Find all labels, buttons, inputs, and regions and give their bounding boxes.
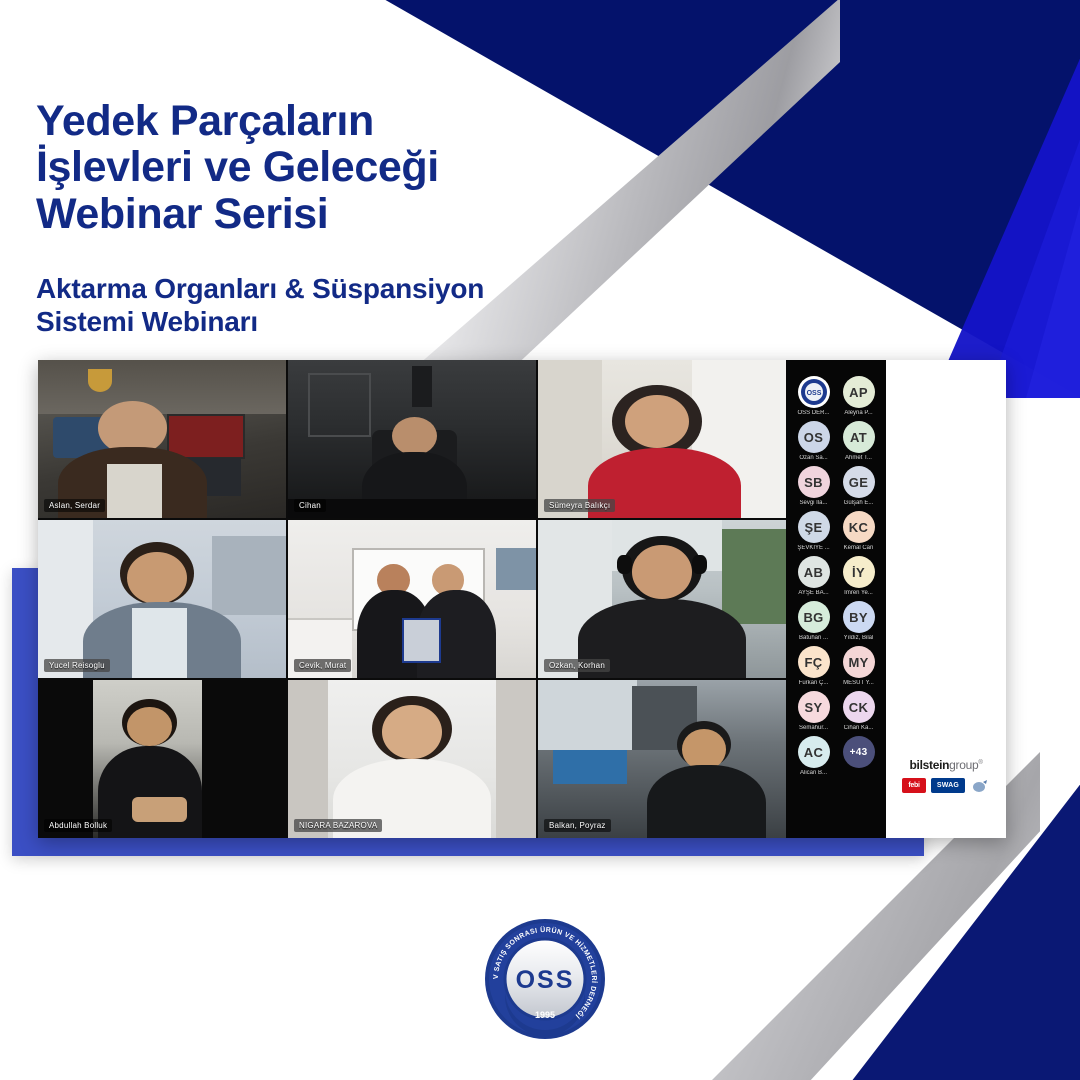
- participant-name: MESUT Y...: [843, 680, 874, 686]
- participant-name: Furkan Ç...: [799, 680, 829, 686]
- video-tile[interactable]: NIGARA BAZAROVA: [288, 680, 536, 838]
- group-name: group: [949, 758, 978, 772]
- bilstein-wordmark: bilsteingroup®: [894, 758, 998, 772]
- participant-avatar: BY: [843, 601, 875, 633]
- participant-avatar: OS: [798, 421, 830, 453]
- participant-item[interactable]: SY Semahur...: [792, 691, 835, 731]
- tile-scene: [538, 520, 786, 678]
- febi-logo: febi: [902, 778, 926, 793]
- sub-brand-row: febi SWAG: [894, 778, 998, 793]
- sponsor-brand-panel: bilsteingroup® febi SWAG: [886, 360, 1006, 838]
- tile-scene: [288, 680, 536, 838]
- bilstein-group-logo: bilsteingroup® febi SWAG: [894, 758, 998, 793]
- participant-item[interactable]: İY İmren Ye...: [837, 556, 880, 596]
- title-block: Yedek Parçaların İşlevleri ve Geleceği W…: [36, 98, 636, 338]
- top-right-blue-stripe-3: [942, 0, 1080, 398]
- participant-item[interactable]: MY MESUT Y...: [837, 646, 880, 686]
- meeting-screenshot: Aslan, Serdar Cihan: [38, 360, 1006, 838]
- oss-year: 1995: [535, 1010, 555, 1020]
- video-grid: Aslan, Serdar Cihan: [38, 360, 786, 838]
- participant-name: AYŞE BA...: [798, 590, 828, 596]
- participant-roster: OSS OSS DER... AP Aleyna P... OS Ozan Sa…: [786, 360, 886, 838]
- participant-name: Semahur...: [799, 725, 828, 731]
- participant-name: Cihan Ka...: [844, 725, 874, 731]
- participant-name: Ahmet T...: [845, 455, 872, 461]
- bilstein-name: bilstein: [910, 758, 950, 772]
- video-tile[interactable]: Balkan, Poyraz: [538, 680, 786, 838]
- participant-item[interactable]: SB Sevgi Ila...: [792, 466, 835, 506]
- participant-item[interactable]: AB AYŞE BA...: [792, 556, 835, 596]
- participant-name: Ozan Sa...: [799, 455, 827, 461]
- tile-name-label: Yucel Reisoglu: [44, 659, 110, 672]
- febi-label: febi: [908, 782, 919, 789]
- tile-scene: [38, 360, 286, 518]
- participant-name: Yıldız, Bilal: [844, 635, 874, 641]
- oss-logo-icon: OTOMOTİV SATIŞ SONRASI ÜRÜN VE HİZMETLER…: [484, 918, 606, 1040]
- participant-avatar: AB: [798, 556, 830, 588]
- tile-name-label: Cihan: [294, 499, 326, 512]
- participant-item[interactable]: CK Cihan Ka...: [837, 691, 880, 731]
- tile-name-label: Aslan, Serdar: [44, 499, 105, 512]
- participant-avatar: ŞE: [798, 511, 830, 543]
- participant-avatar: FÇ: [798, 646, 830, 678]
- swag-logo: SWAG: [931, 778, 965, 793]
- participant-avatar: AC: [798, 736, 830, 768]
- oss-acronym: OSS: [516, 966, 575, 994]
- registered-mark: ®: [978, 760, 982, 766]
- video-tile[interactable]: Abdullah Bolluk: [38, 680, 286, 838]
- blue-print-logo: [970, 778, 990, 793]
- video-tile[interactable]: Yucel Reisoglu: [38, 520, 286, 678]
- tile-name-label: Balkan, Poyraz: [544, 819, 611, 832]
- participant-name: OSS DER...: [797, 410, 829, 416]
- participant-name: Gülşah E...: [844, 500, 874, 506]
- participant-item[interactable]: KC Kemal Can: [837, 511, 880, 551]
- participant-name: İmren Ye...: [844, 590, 873, 596]
- tile-scene: [38, 680, 286, 838]
- participant-name: ŞEVKİYE ...: [797, 545, 829, 551]
- video-tile[interactable]: Cevik, Murat: [288, 520, 536, 678]
- participant-item[interactable]: BY Yıldız, Bilal: [837, 601, 880, 641]
- tile-name-label: NIGARA BAZAROVA: [294, 819, 382, 832]
- participant-item[interactable]: OS Ozan Sa...: [792, 421, 835, 461]
- participant-overflow-badge: +43: [843, 736, 875, 768]
- participant-name: Aleyna P...: [844, 410, 872, 416]
- video-tile[interactable]: Sümeyra Balıkçı: [538, 360, 786, 518]
- tile-name-label: Sümeyra Balıkçı: [544, 499, 615, 512]
- participant-item[interactable]: AP Aleyna P...: [837, 376, 880, 416]
- svg-text:OSS: OSS: [806, 390, 821, 397]
- participant-name: Sevgi Ila...: [799, 500, 827, 506]
- video-tile[interactable]: Aslan, Serdar: [38, 360, 286, 518]
- video-tile[interactable]: Cihan: [288, 360, 536, 518]
- blue-print-droplet-icon: [971, 779, 989, 793]
- tile-name-label: Cevik, Murat: [294, 659, 351, 672]
- oss-association-logo: OTOMOTİV SATIŞ SONRASI ÜRÜN VE HİZMETLER…: [484, 918, 606, 1040]
- participant-overflow-item[interactable]: +43: [837, 736, 880, 776]
- tile-name-label: Abdullah Bolluk: [44, 819, 112, 832]
- participant-name: Batuhan ...: [799, 635, 828, 641]
- tile-scene: [288, 360, 536, 518]
- participant-avatar: MY: [843, 646, 875, 678]
- tile-name-label: Ozkan, Korhan: [544, 659, 610, 672]
- oss-association-avatar: OSS: [798, 376, 830, 408]
- participant-avatar: AT: [843, 421, 875, 453]
- participant-item[interactable]: ŞE ŞEVKİYE ...: [792, 511, 835, 551]
- participant-avatar: AP: [843, 376, 875, 408]
- participant-item[interactable]: FÇ Furkan Ç...: [792, 646, 835, 686]
- participant-roster-grid: OSS OSS DER... AP Aleyna P... OS Ozan Sa…: [786, 376, 886, 776]
- participant-avatar: SY: [798, 691, 830, 723]
- page-title: Yedek Parçaların İşlevleri ve Geleceği W…: [36, 98, 636, 237]
- participant-item[interactable]: OSS OSS DER...: [792, 376, 835, 416]
- top-right-blue-stripe-2: [882, 0, 1080, 398]
- participant-item[interactable]: GE Gülşah E...: [837, 466, 880, 506]
- participant-name: Kemal Can: [844, 545, 874, 551]
- tile-scene: [38, 520, 286, 678]
- participant-name: Alican B...: [800, 770, 827, 776]
- participant-avatar: GE: [843, 466, 875, 498]
- participant-avatar: CK: [843, 691, 875, 723]
- top-right-blue-stripe-1: [832, 0, 1080, 398]
- participant-avatar: BG: [798, 601, 830, 633]
- poster-canvas: Yedek Parçaların İşlevleri ve Geleceği W…: [0, 0, 1080, 1080]
- video-tile[interactable]: Ozkan, Korhan: [538, 520, 786, 678]
- participant-item[interactable]: BG Batuhan ...: [792, 601, 835, 641]
- tile-scene: [538, 360, 786, 518]
- participant-avatar: SB: [798, 466, 830, 498]
- participant-item[interactable]: AC Alican B...: [792, 736, 835, 776]
- page-subtitle: Aktarma Organları & Süspansiyon Sistemi …: [36, 273, 636, 337]
- participant-avatar: KC: [843, 511, 875, 543]
- tile-scene: [538, 680, 786, 838]
- swag-label: SWAG: [937, 782, 959, 789]
- participant-item[interactable]: AT Ahmet T...: [837, 421, 880, 461]
- oss-badge-icon: OSS: [800, 378, 828, 406]
- participant-avatar: İY: [843, 556, 875, 588]
- tile-scene: [288, 520, 536, 678]
